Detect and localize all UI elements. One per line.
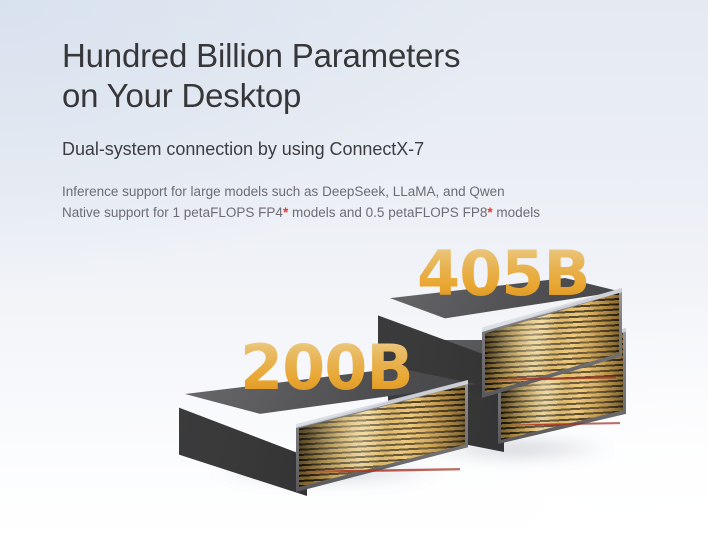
feature-text-run: Inference support for large models such … — [62, 184, 505, 199]
feature-text-run: models — [493, 205, 540, 220]
slide-canvas: Hundred Billion Parameters on Your Deskt… — [0, 0, 708, 540]
feature-text-run: models and 0.5 petaFLOPS FP8 — [288, 205, 487, 220]
feature-line-2: Native support for 1 petaFLOPS FP4* mode… — [62, 202, 662, 223]
page-subtitle: Dual-system connection by using ConnectX… — [62, 137, 662, 161]
capacity-badge-200b: 200B — [240, 337, 413, 399]
feature-text-run: Native support for 1 petaFLOPS FP4 — [62, 205, 283, 220]
chassis-side-panel — [179, 402, 307, 496]
feature-description: Inference support for large models such … — [62, 181, 662, 223]
hero-text-block: Hundred Billion Parameters on Your Deskt… — [62, 36, 662, 223]
page-title: Hundred Billion Parameters on Your Deskt… — [62, 36, 662, 116]
feature-line-1: Inference support for large models such … — [62, 181, 662, 202]
capacity-badge-405b: 405B — [417, 243, 590, 305]
